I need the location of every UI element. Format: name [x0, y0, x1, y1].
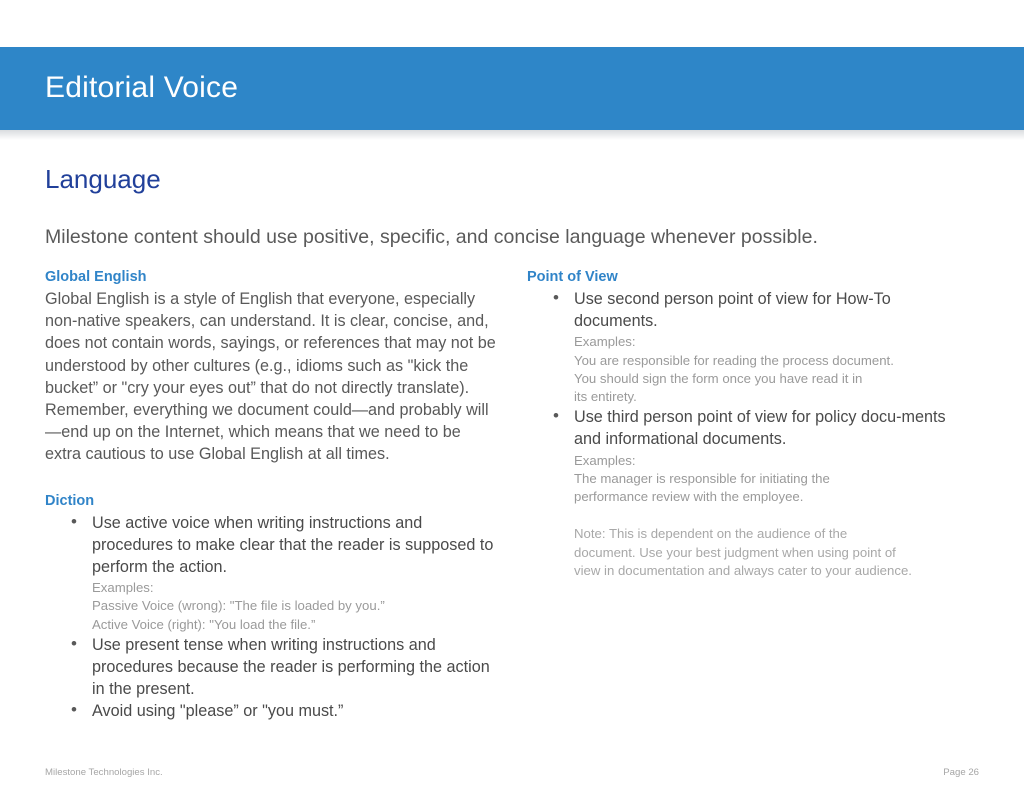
examples-label: Examples:: [574, 452, 969, 470]
section-heading: Language: [45, 163, 161, 195]
subheading-diction: Diction: [45, 492, 500, 511]
list-item: Avoid using "please” or "you must.”: [45, 700, 500, 722]
title-band-shadow: [0, 130, 1024, 140]
note-line: view in documentation and always cater t…: [574, 562, 969, 581]
list-item: Use present tense when writing instructi…: [45, 634, 500, 701]
note-line: document. Use your best judgment when us…: [574, 544, 969, 563]
examples-label: Examples:: [574, 333, 969, 351]
bullet-text: Use present tense when writing instructi…: [92, 636, 490, 698]
diction-bullet-list: Use active voice when writing instructio…: [45, 512, 500, 723]
subheading-global-english: Global English: [45, 268, 500, 287]
example-line: its entirety.: [574, 388, 969, 406]
example-line: performance review with the employee.: [574, 488, 969, 506]
lead-paragraph: Milestone content should use positive, s…: [45, 224, 985, 250]
example-block: Examples: Passive Voice (wrong): "The fi…: [92, 579, 500, 634]
bullet-text: Use third person point of view for polic…: [574, 408, 946, 448]
example-block: Examples: The manager is responsible for…: [574, 452, 969, 507]
list-item: Use active voice when writing instructio…: [45, 512, 500, 634]
example-line: You are responsible for reading the proc…: [574, 352, 969, 370]
section-diction: Diction Use active voice when writing in…: [45, 492, 500, 723]
example-line: You should sign the form once you have r…: [574, 370, 969, 388]
section-point-of-view: Point of View Use second person point of…: [527, 268, 969, 581]
example-line: Active Voice (right): "You load the file…: [92, 616, 500, 634]
page-title: Editorial Voice: [45, 70, 238, 106]
bullet-text: Use active voice when writing instructio…: [92, 514, 493, 576]
bullet-text: Avoid using "please” or "you must.”: [92, 702, 343, 720]
footer-company: Milestone Technologies Inc.: [45, 766, 163, 779]
footer-page-number: Page 26: [943, 766, 979, 779]
paragraph-global-english: Global English is a style of English tha…: [45, 288, 500, 466]
examples-label: Examples:: [92, 579, 500, 597]
slide-canvas: Editorial Voice Language Milestone conte…: [0, 0, 1024, 796]
section-global-english: Global English Global English is a style…: [45, 268, 500, 466]
bullet-text: Use second person point of view for How-…: [574, 290, 891, 330]
note-line: Note: This is dependent on the audience …: [574, 525, 969, 544]
subheading-point-of-view: Point of View: [527, 268, 969, 287]
list-item: Use third person point of view for polic…: [527, 406, 969, 506]
right-column: Point of View Use second person point of…: [527, 268, 969, 581]
example-line: The manager is responsible for initiatin…: [574, 470, 969, 488]
body-columns: Global English Global English is a style…: [0, 268, 1024, 748]
example-block: Examples: You are responsible for readin…: [574, 333, 969, 406]
point-of-view-bullet-list: Use second person point of view for How-…: [527, 288, 969, 506]
example-line: Passive Voice (wrong): "The file is load…: [92, 597, 500, 615]
left-column: Global English Global English is a style…: [45, 268, 500, 723]
note-block: Note: This is dependent on the audience …: [527, 525, 969, 581]
list-item: Use second person point of view for How-…: [527, 288, 969, 406]
